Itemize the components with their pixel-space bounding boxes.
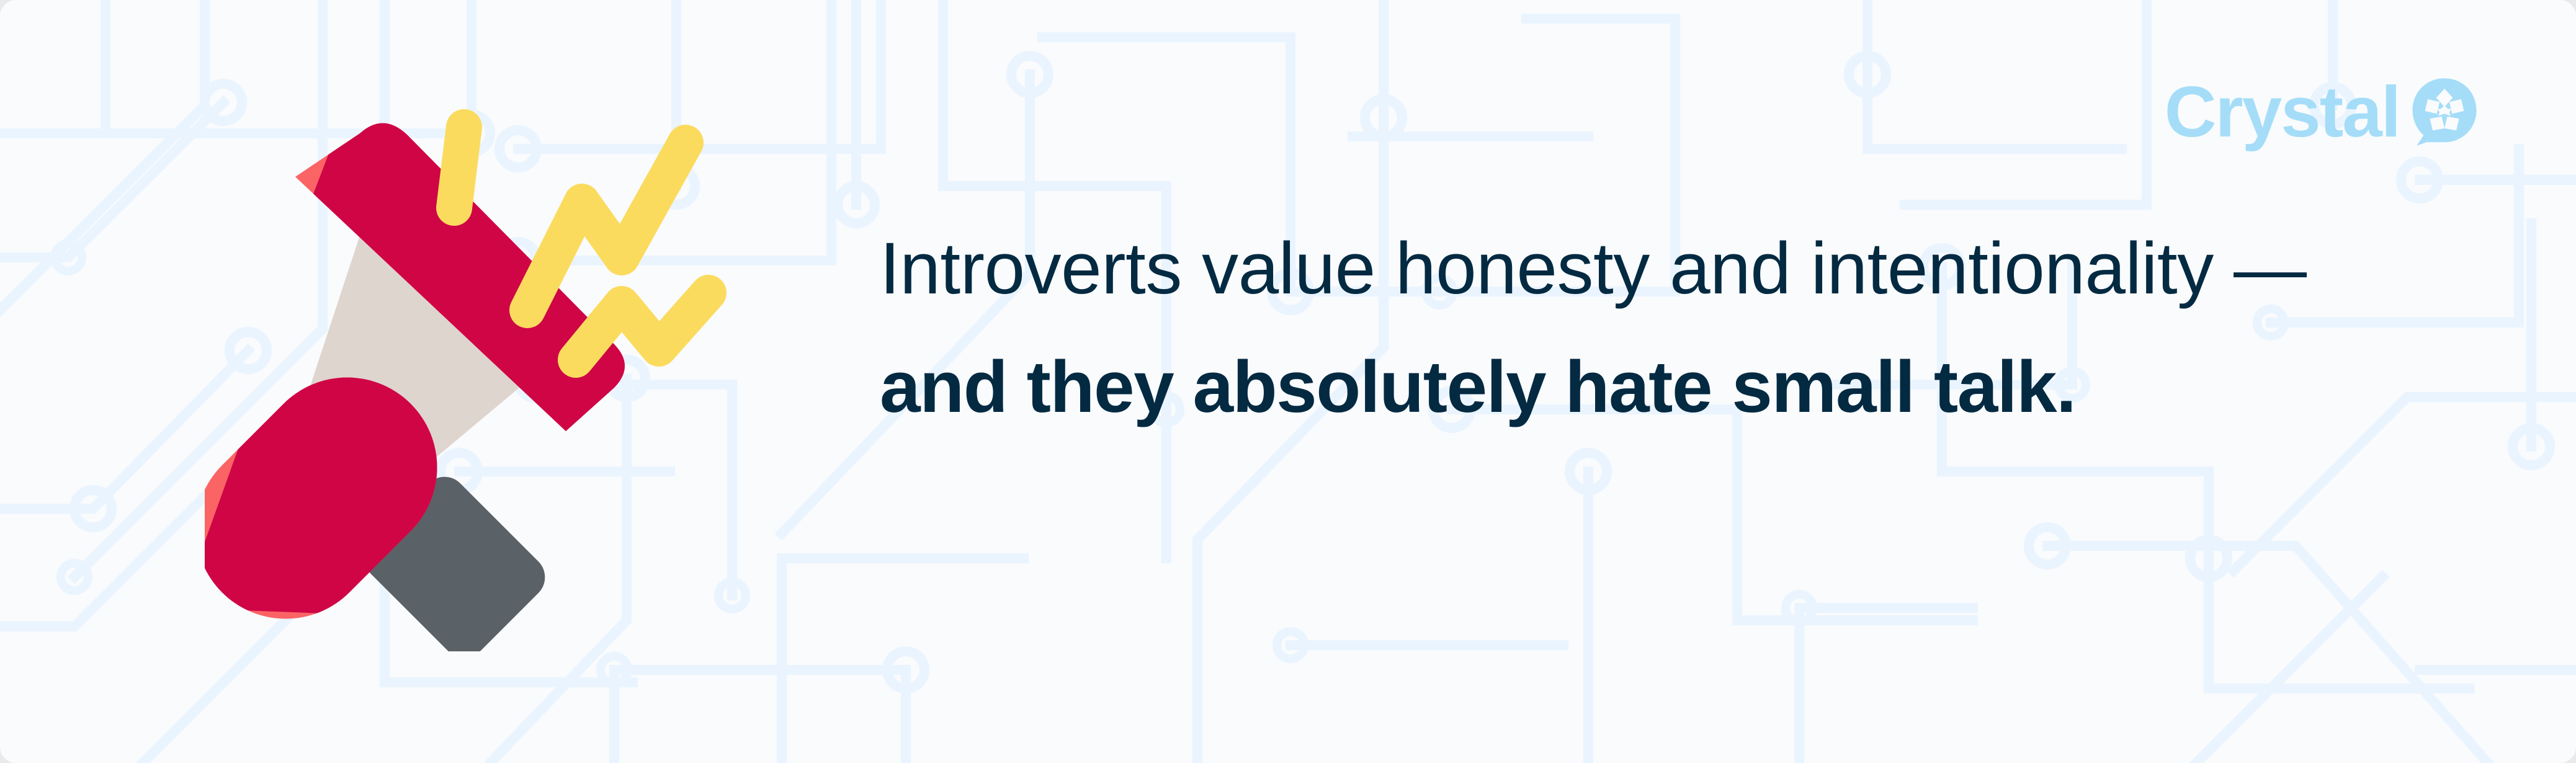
headline-line-1: Introverts value honesty and [880,228,1791,310]
headline-line-3-bold: small talk. [1732,346,2075,428]
promo-banner: Introverts value honesty and intentional… [0,0,2576,763]
logo-wordmark: Crystal [2165,76,2400,148]
headline-line-2-light: intentionality — [1811,228,2307,310]
sound-wave-bar [454,127,464,208]
crystal-speech-bubble-icon [2410,77,2479,146]
sound-wave-zigzag-small [576,293,709,360]
headline-text: Introverts value honesty and intentional… [880,210,2400,447]
megaphone-illustration [205,93,763,651]
sound-wave-zigzag-large [527,143,686,310]
headline-line-2-bold: and they absolutely hate [880,346,1712,428]
crystal-logo[interactable]: Crystal [2165,76,2479,148]
